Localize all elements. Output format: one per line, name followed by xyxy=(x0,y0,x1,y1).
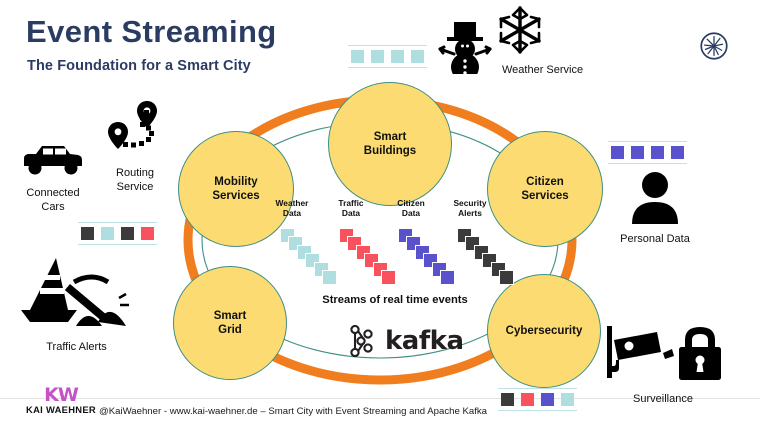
stream-label-traffic-data: Traffic Data xyxy=(321,198,381,218)
stream-event-square xyxy=(322,270,337,285)
legend-personal-data xyxy=(608,141,687,164)
node-label-line1: Citizen xyxy=(521,175,568,189)
legend-swatch xyxy=(541,393,554,406)
icon-caption-connected-cars: Connected Cars xyxy=(12,187,94,215)
map-pin-route-icon xyxy=(100,98,170,160)
icon-caption-personal-data: Personal Data xyxy=(600,233,710,247)
legend-swatch xyxy=(371,50,384,63)
stream-label-line2: Data xyxy=(283,208,301,218)
streams-caption: Streams of real time events xyxy=(300,294,490,306)
icon-group-connected-cars[interactable]: Connected Cars xyxy=(12,140,94,215)
node-mobility-services[interactable]: Mobility Services xyxy=(178,131,294,247)
icon-group-traffic-alerts[interactable]: Traffic Alerts xyxy=(14,248,139,355)
kw-name: KAI WAEHNER xyxy=(26,404,96,415)
legend-swatch xyxy=(391,50,404,63)
legend-swatch xyxy=(671,146,684,159)
node-label-line2: Buildings xyxy=(364,144,416,158)
node-label-line2: Grid xyxy=(214,323,247,337)
stream-label-security-alerts: Security Alerts xyxy=(440,198,500,218)
node-label-line1: Smart xyxy=(364,130,416,144)
stream-label-weather-data: Weather Data xyxy=(262,198,322,218)
starburst-circle-logo xyxy=(697,29,731,63)
stream-event-square xyxy=(381,270,396,285)
node-label-line2: Services xyxy=(212,189,259,203)
legend-swatch xyxy=(411,50,424,63)
stream-label-line1: Citizen xyxy=(397,198,424,208)
slide-canvas: Event Streaming The Foundation for a Sma… xyxy=(0,0,760,428)
icon-caption-surveillance: Surveillance xyxy=(598,393,728,407)
node-label-line2: Services xyxy=(521,189,568,203)
stream-event-square xyxy=(440,270,455,285)
node-label-line1: Cybersecurity xyxy=(506,324,583,338)
node-smart-grid[interactable]: Smart Grid xyxy=(173,266,287,380)
stream-event-square xyxy=(499,270,514,285)
legend-swatch xyxy=(501,393,514,406)
legend-swatch xyxy=(101,227,114,240)
node-label-line1: Mobility xyxy=(212,175,259,189)
stream-chain-security-alerts xyxy=(457,228,527,290)
footer-credit: @KaiWaehner - www.kai-waehner.de – Smart… xyxy=(99,406,487,417)
legend-swatch xyxy=(651,146,664,159)
icon-caption-routing-service: Routing Service xyxy=(96,167,174,195)
kafka-wordmark: kafka xyxy=(385,326,463,356)
legend-swatch xyxy=(521,393,534,406)
car-icon xyxy=(16,140,90,180)
kai-waehner-logo: KW KAI WAEHNER xyxy=(26,386,96,415)
stream-label-line2: Data xyxy=(342,208,360,218)
page-title: Event Streaming xyxy=(26,14,277,50)
legend-swatch xyxy=(141,227,154,240)
legend-swatch xyxy=(561,393,574,406)
legend-swatch xyxy=(611,146,624,159)
icon-group-personal-data[interactable]: Personal Data xyxy=(600,170,710,247)
legend-footer xyxy=(498,388,577,411)
legend-swatch xyxy=(631,146,644,159)
legend-top xyxy=(348,45,427,68)
stream-label-line1: Security xyxy=(453,198,486,208)
kw-monogram: KW xyxy=(26,386,96,404)
person-icon xyxy=(622,170,688,226)
stream-label-line1: Traffic xyxy=(338,198,363,208)
page-subtitle: The Foundation for a Smart City xyxy=(27,58,251,74)
kafka-logo: kafka xyxy=(348,324,463,358)
stream-label-line2: Data xyxy=(402,208,420,218)
legend-swatch xyxy=(81,227,94,240)
kafka-glyph-icon xyxy=(348,324,378,358)
camera-lock-icon xyxy=(599,322,727,386)
stream-label-line1: Weather xyxy=(276,198,309,208)
node-cybersecurity[interactable]: Cybersecurity xyxy=(487,274,601,388)
stream-label-line2: Alerts xyxy=(458,208,482,218)
icon-caption-weather-service: Weather Service xyxy=(502,64,583,78)
stream-label-citizen-data: Citizen Data xyxy=(381,198,441,218)
legend-swatch xyxy=(351,50,364,63)
icon-group-surveillance[interactable]: Surveillance xyxy=(598,322,728,407)
icon-group-routing-service[interactable]: Routing Service xyxy=(96,98,174,195)
icon-group-weather-service[interactable]: Weather Service xyxy=(432,4,632,74)
legend-swatch xyxy=(121,227,134,240)
node-smart-buildings[interactable]: Smart Buildings xyxy=(328,82,452,206)
traffic-cone-pickaxe-icon xyxy=(16,248,138,334)
node-label-line1: Smart xyxy=(214,309,247,323)
legend-connected-cars xyxy=(78,222,157,245)
icon-caption-traffic-alerts: Traffic Alerts xyxy=(14,341,139,355)
